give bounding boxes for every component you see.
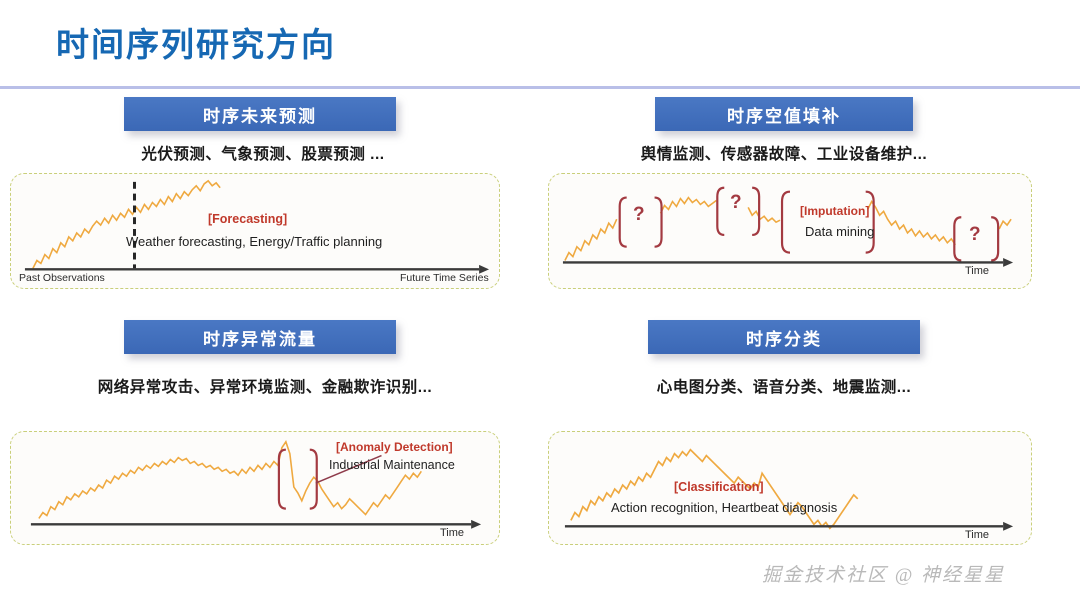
card-pill-label: 时序异常流量 bbox=[203, 325, 317, 350]
title-divider bbox=[0, 86, 1080, 89]
x-axis-arrow bbox=[1003, 258, 1013, 267]
card-pill-label: 时序空值填补 bbox=[727, 102, 841, 127]
chart-panel-imputation: ? ? ? [Imputation] Data mining Time bbox=[548, 173, 1032, 289]
imputation-chart-svg bbox=[549, 174, 1031, 288]
gap-bracket-3 bbox=[954, 217, 998, 260]
card-subtitle-classification: 心电图分类、语音分类、地震监测... bbox=[619, 375, 949, 397]
gap-bracket-2 bbox=[717, 188, 759, 235]
card-pill-label: 时序分类 bbox=[746, 325, 822, 350]
card-pill-imputation[interactable]: 时序空值填补 bbox=[655, 97, 913, 131]
chart-panel-classification: [Classification] Action recognition, Hea… bbox=[548, 431, 1032, 545]
chart-panel-anomaly-detection: [Anomaly Detection] Industrial Maintenan… bbox=[10, 431, 500, 545]
classification-chart-svg bbox=[549, 432, 1031, 544]
x-axis-arrow bbox=[479, 265, 489, 274]
card-pill-label: 时序未来预测 bbox=[203, 102, 317, 127]
slide-canvas: 时间序列研究方向 时序未来预测 光伏预测、气象预测、股票预测 ... [Fore… bbox=[0, 0, 1080, 603]
chart-panel-forecasting: [Forecasting] Weather forecasting, Energ… bbox=[10, 173, 500, 289]
x-axis-arrow bbox=[471, 520, 481, 529]
card-subtitle-forecasting: 光伏预测、气象预测、股票预测 ... bbox=[118, 142, 408, 164]
series-past-observations bbox=[33, 181, 220, 268]
series-waveform bbox=[571, 450, 858, 529]
card-subtitle-anomaly-detection: 网络异常攻击、异常环境监测、金融欺诈识别... bbox=[60, 375, 470, 397]
series-signal-with-gaps bbox=[565, 198, 1011, 261]
annotation-leader-line bbox=[316, 456, 382, 484]
card-pill-classification[interactable]: 时序分类 bbox=[648, 320, 920, 354]
card-subtitle-imputation: 舆情监测、传感器故障、工业设备维护... bbox=[639, 142, 929, 164]
x-axis-arrow bbox=[1003, 522, 1013, 531]
card-pill-anomaly-detection[interactable]: 时序异常流量 bbox=[124, 320, 396, 354]
forecasting-chart-svg bbox=[11, 174, 499, 288]
watermark: 掘金技术社区 @ 神经星星 bbox=[762, 560, 1005, 587]
page-title: 时间序列研究方向 bbox=[56, 18, 336, 66]
gap-bracket-1 bbox=[620, 198, 662, 247]
card-pill-forecasting[interactable]: 时序未来预测 bbox=[124, 97, 396, 131]
anomaly-bracket-left bbox=[279, 450, 286, 509]
series-traffic bbox=[39, 442, 421, 519]
gap-bracket-imputation bbox=[782, 192, 874, 253]
anomaly-chart-svg bbox=[11, 432, 499, 544]
